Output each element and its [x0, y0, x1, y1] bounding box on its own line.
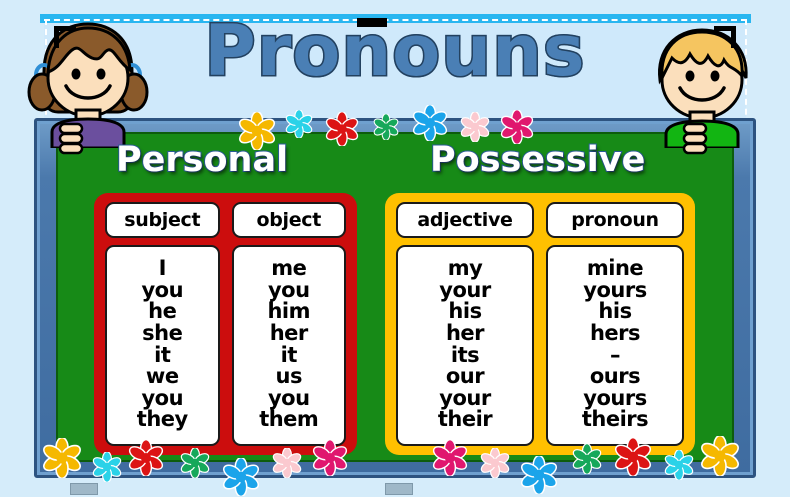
section-heading-possessive: Possessive	[430, 140, 645, 180]
word-item: him	[267, 301, 310, 323]
cropped-thumbnail-b	[385, 483, 413, 495]
word-item: yours	[583, 388, 646, 410]
word-item: she	[142, 323, 182, 345]
word-item: ours	[590, 366, 640, 388]
word-item: their	[438, 409, 492, 431]
column-header-subject: subject	[105, 202, 220, 238]
section-heading-personal: Personal	[116, 140, 288, 180]
word-item: her	[270, 323, 308, 345]
top-center-tick-mark	[357, 18, 387, 27]
word-item: us	[276, 366, 302, 388]
column-pronoun: pronoun mine yours his hers – ours yours…	[546, 202, 684, 446]
word-item: –	[610, 345, 620, 367]
word-item: I	[159, 258, 166, 280]
word-item: me	[271, 258, 306, 280]
word-item: we	[146, 366, 179, 388]
group-personal: subject I you he she it we you they obje…	[94, 193, 357, 455]
girl-hands	[56, 118, 116, 162]
poster-canvas: Personal Possessive subject I you he she…	[0, 0, 790, 497]
word-item: your	[439, 388, 490, 410]
word-item: theirs	[582, 409, 648, 431]
word-item: you	[268, 280, 310, 302]
cropped-thumbnail-a	[70, 483, 98, 495]
column-adjective: adjective my your his her its our your t…	[396, 202, 534, 446]
word-item: his	[448, 301, 481, 323]
word-item: you	[268, 388, 310, 410]
word-list-pronoun: mine yours his hers – ours yours theirs	[546, 245, 684, 446]
column-header-pronoun: pronoun	[546, 202, 684, 238]
word-list-adjective: my your his her its our your their	[396, 245, 534, 446]
word-item: they	[137, 409, 188, 431]
word-item: yours	[583, 280, 646, 302]
word-item: them	[259, 409, 318, 431]
word-item: he	[148, 301, 176, 323]
word-item: hers	[590, 323, 640, 345]
column-header-adjective: adjective	[396, 202, 534, 238]
word-item: its	[451, 345, 479, 367]
word-item: it	[154, 345, 170, 367]
boy-hands	[672, 118, 732, 162]
column-object: object me you him her it us you them	[232, 202, 347, 446]
word-item: you	[141, 388, 183, 410]
page-title: Pronouns	[0, 16, 790, 86]
word-item: mine	[587, 258, 643, 280]
word-item: our	[446, 366, 484, 388]
word-list-subject: I you he she it we you they	[105, 245, 220, 446]
word-item: her	[446, 323, 484, 345]
word-item: your	[439, 280, 490, 302]
word-item: it	[281, 345, 297, 367]
column-subject: subject I you he she it we you they	[105, 202, 220, 446]
word-item: my	[448, 258, 483, 280]
corner-bracket-top-right	[714, 26, 736, 48]
word-item: his	[598, 301, 631, 323]
page-title-text: Pronouns	[204, 16, 585, 86]
word-list-object: me you him her it us you them	[232, 245, 347, 446]
group-possessive: adjective my your his her its our your t…	[385, 193, 695, 455]
corner-bracket-top-left	[54, 26, 76, 48]
word-item: you	[141, 280, 183, 302]
column-header-object: object	[232, 202, 347, 238]
